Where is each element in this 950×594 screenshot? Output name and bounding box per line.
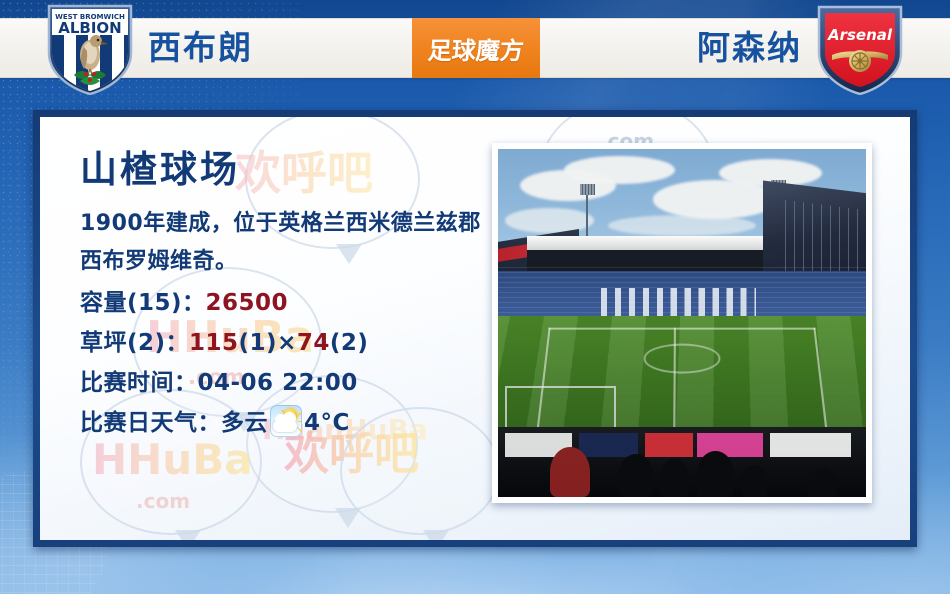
photo-spectator — [550, 447, 590, 497]
pitch-width-rank: (2) — [330, 330, 369, 356]
home-team-name: 西布朗 — [148, 22, 253, 74]
home-badge-text-main: ALBION — [58, 19, 122, 37]
away-team-badge: Arsenal — [814, 3, 906, 95]
away-team-name: 阿森纳 — [697, 22, 802, 74]
pitch-line — [548, 328, 815, 330]
site-logo[interactable]: 足球魔方 — [412, 18, 540, 78]
match-weather-condition: 多云 — [221, 410, 268, 436]
centre-circle — [643, 344, 721, 373]
pitch-length-value: 115 — [189, 330, 239, 356]
photo-advert-board — [645, 433, 693, 457]
capacity-row: 容量(15)：26500 — [80, 283, 490, 323]
stadium-description: 1900年建成，位于英格兰西米德兰兹郡西布罗姆维奇。 — [80, 205, 490, 281]
photo-goal-frame — [505, 386, 615, 431]
cloud-shape — [273, 420, 297, 432]
pitch-length-rank: (1) — [239, 330, 278, 356]
match-weather-label: 比赛日天气： — [80, 410, 221, 436]
photo-spectator — [741, 465, 767, 497]
match-weather-temperature: 4°C — [304, 410, 350, 436]
pitch-size-label: 草坪(2)： — [80, 330, 189, 356]
photo-spectator — [619, 454, 652, 497]
site-logo-text: 足球魔方 — [427, 31, 525, 66]
stadium-info-card: HHuBa .com 欢呼吧 HuanHuBa HHuBa .com 欢呼吧 .… — [40, 117, 910, 540]
photo-foreground-crowd — [498, 427, 866, 497]
photo-spectator — [697, 451, 734, 497]
capacity-value: 26500 — [206, 290, 289, 316]
match-weather-row: 比赛日天气：多云 4°C — [80, 403, 490, 443]
photo-spectator — [807, 469, 836, 497]
pitch-size-row: 草坪(2)：115(1)×74(2) — [80, 323, 490, 363]
stadium-info-card-border: HHuBa .com 欢呼吧 HuanHuBa HHuBa .com 欢呼吧 .… — [33, 110, 917, 547]
photo-cloud — [608, 215, 755, 236]
pitch-width-value: 74 — [297, 330, 330, 356]
photo-cloud — [564, 156, 674, 184]
photo-advert-board — [770, 433, 851, 457]
match-time-row: 比赛时间：04-06 22:00 — [80, 363, 490, 403]
photo-seat-lettering — [601, 288, 756, 316]
stadium-title: 山楂球场 — [80, 147, 490, 193]
capacity-label: 容量(15)： — [80, 290, 206, 316]
stadium-photo — [498, 149, 866, 497]
photo-advert-board — [579, 433, 638, 457]
photo-stand-roof — [527, 236, 777, 250]
stadium-photo-frame — [492, 143, 872, 503]
photo-spectator — [660, 459, 689, 497]
watermark-subtext-2: .com — [136, 489, 190, 513]
photo-cloud — [505, 208, 593, 232]
match-time-label: 比赛时间： — [80, 370, 198, 396]
partly-cloudy-icon — [270, 405, 302, 437]
stadium-info-text: 山楂球场 1900年建成，位于英格兰西米德兰兹郡西布罗姆维奇。 容量(15)：2… — [80, 147, 490, 443]
match-time-value: 04-06 22:00 — [198, 370, 358, 396]
away-badge-text: Arsenal — [827, 26, 893, 44]
pitch-size-separator: × — [277, 330, 297, 356]
home-team-badge: WEST BROMWICH ALBION — [44, 3, 136, 95]
floodlight-head — [580, 184, 595, 195]
